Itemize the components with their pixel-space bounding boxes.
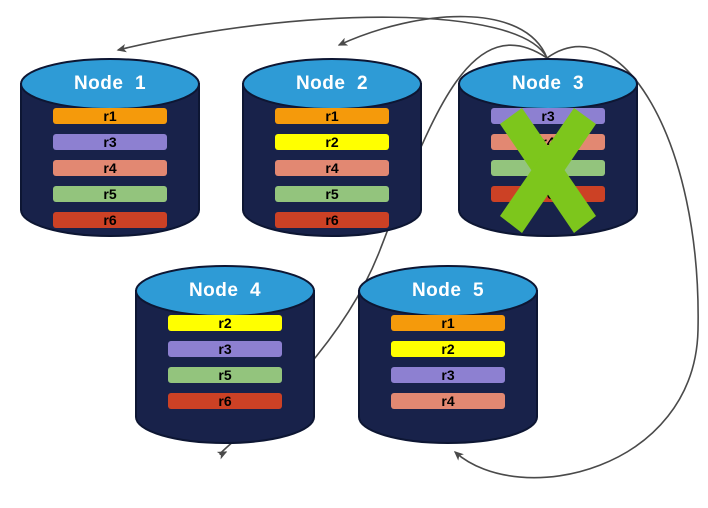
database-node-5[interactable]: Node 5r1r2r3r4 bbox=[358, 265, 538, 443]
arrow-node3-to-node2 bbox=[339, 17, 547, 58]
database-node-3[interactable]: Node 3r3r4r5r6 bbox=[458, 58, 638, 236]
shard-r4[interactable]: r4 bbox=[491, 134, 605, 150]
shard-r1[interactable]: r1 bbox=[53, 108, 167, 124]
database-node-4[interactable]: Node 4r2r3r5r6 bbox=[135, 265, 315, 443]
shard-r4[interactable]: r4 bbox=[275, 160, 389, 176]
shard-r2[interactable]: r2 bbox=[168, 315, 282, 331]
shard-r6[interactable]: r6 bbox=[491, 186, 605, 202]
shard-r2[interactable]: r2 bbox=[391, 341, 505, 357]
shard-list: r1r2r4r5r6 bbox=[242, 108, 422, 228]
shard-r3[interactable]: r3 bbox=[491, 108, 605, 124]
shard-list: r3r4r5r6 bbox=[458, 108, 638, 202]
node-title: Node 3 bbox=[458, 73, 638, 95]
shard-r1[interactable]: r1 bbox=[391, 315, 505, 331]
diagram-canvas: Node 1r1r3r4r5r6Node 2r1r2r4r5r6Node 3r3… bbox=[0, 0, 708, 508]
shard-list: r2r3r5r6 bbox=[135, 315, 315, 409]
node-title: Node 1 bbox=[20, 73, 200, 95]
shard-r3[interactable]: r3 bbox=[168, 341, 282, 357]
shard-r2[interactable]: r2 bbox=[275, 134, 389, 150]
node-title: Node 5 bbox=[358, 280, 538, 302]
shard-list: r1r3r4r5r6 bbox=[20, 108, 200, 228]
database-node-1[interactable]: Node 1r1r3r4r5r6 bbox=[20, 58, 200, 236]
shard-r3[interactable]: r3 bbox=[391, 367, 505, 383]
shard-r4[interactable]: r4 bbox=[391, 393, 505, 409]
shard-r3[interactable]: r3 bbox=[53, 134, 167, 150]
shard-r6[interactable]: r6 bbox=[53, 212, 167, 228]
shard-r6[interactable]: r6 bbox=[275, 212, 389, 228]
shard-r1[interactable]: r1 bbox=[275, 108, 389, 124]
node-title: Node 2 bbox=[242, 73, 422, 95]
shard-r6[interactable]: r6 bbox=[168, 393, 282, 409]
shard-r5[interactable]: r5 bbox=[168, 367, 282, 383]
node-title: Node 4 bbox=[135, 280, 315, 302]
shard-r5[interactable]: r5 bbox=[491, 160, 605, 176]
shard-r5[interactable]: r5 bbox=[275, 186, 389, 202]
shard-r4[interactable]: r4 bbox=[53, 160, 167, 176]
shard-r5[interactable]: r5 bbox=[53, 186, 167, 202]
arrow-node3-to-node1 bbox=[118, 17, 547, 58]
database-node-2[interactable]: Node 2r1r2r4r5r6 bbox=[242, 58, 422, 236]
shard-list: r1r2r3r4 bbox=[358, 315, 538, 409]
